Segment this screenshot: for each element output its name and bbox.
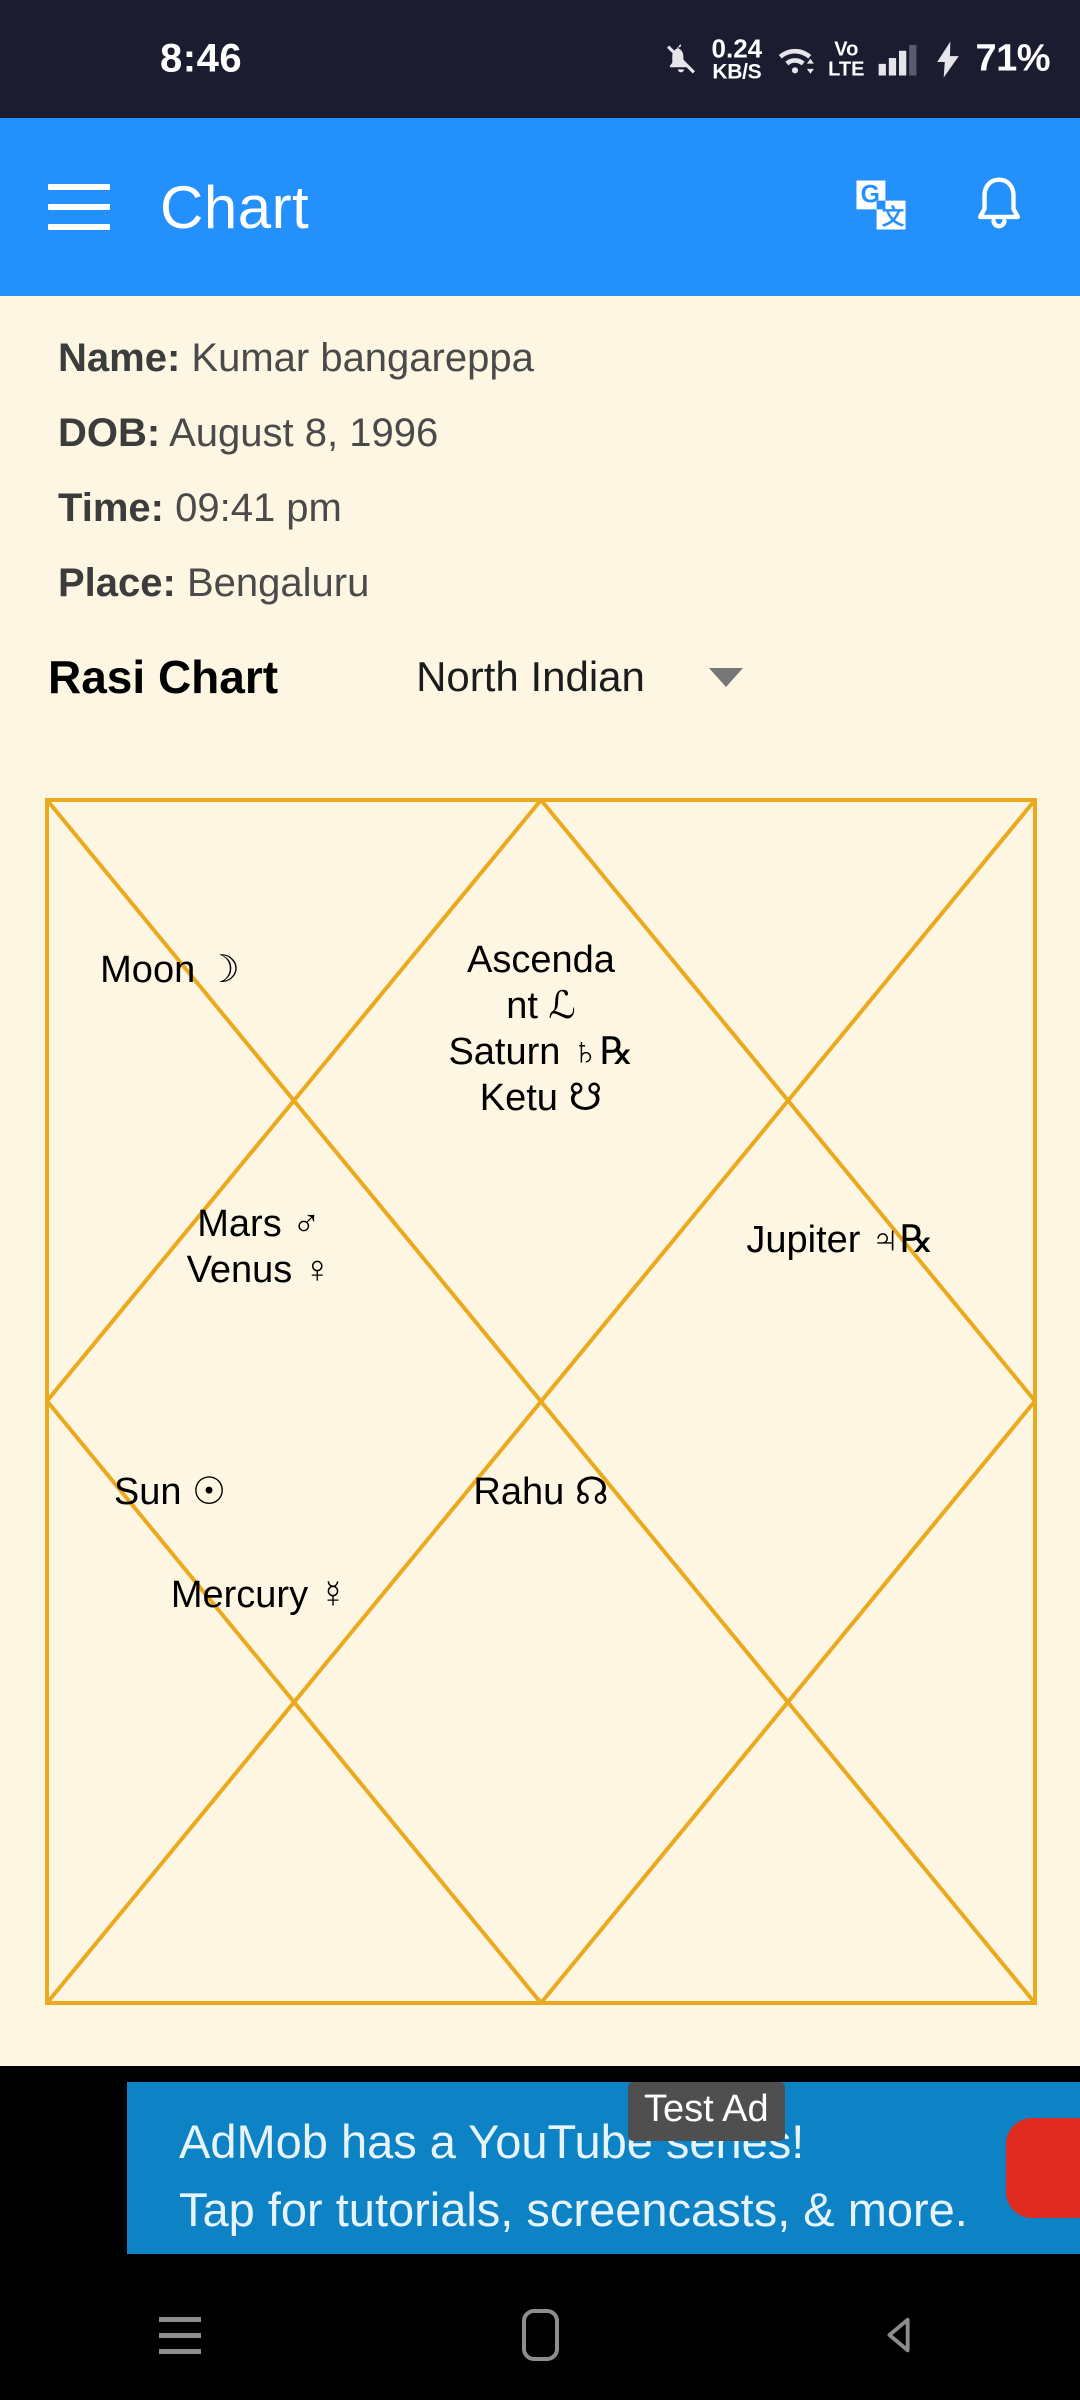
detail-row-place: Place: Bengaluru	[58, 561, 1080, 605]
wifi-icon	[775, 43, 815, 75]
cellular-signal-icon	[877, 43, 921, 75]
detail-label-name: Name:	[58, 336, 180, 380]
charging-bolt-icon	[934, 41, 962, 77]
status-bar-icons: 0.24 KB/S Vo LTE	[663, 36, 1050, 83]
android-navigation-bar	[0, 2270, 1080, 2400]
app-bar: Chart G 文	[0, 118, 1080, 296]
network-speed-unit: KB/S	[712, 62, 761, 83]
svg-text:G: G	[861, 181, 880, 208]
google-translate-icon[interactable]: G 文	[850, 174, 912, 241]
youtube-play-icon	[1006, 2118, 1080, 2218]
recents-icon[interactable]	[120, 2295, 240, 2375]
hamburger-menu-icon[interactable]	[48, 184, 110, 230]
detail-row-dob: DOB: August 8, 1996	[58, 411, 1080, 455]
detail-value-place: Bengaluru	[187, 561, 369, 605]
app-bar-actions: G 文	[850, 174, 1028, 241]
chart-header: Rasi Chart North Indian	[48, 650, 1008, 704]
rasi-chart[interactable]: Moon ☽ Ascenda nt ℒ Saturn ♄℞ Ketu ☋ Mar…	[45, 798, 1037, 2005]
detail-value-dob: August 8, 1996	[169, 411, 438, 455]
admob-banner[interactable]: AdMob has a YouTube series! Tap for tuto…	[127, 2082, 1080, 2254]
network-speed-indicator: 0.24 KB/S	[712, 36, 763, 83]
detail-label-place: Place:	[58, 561, 176, 605]
chart-section-title: Rasi Chart	[48, 650, 278, 704]
svg-text:文: 文	[882, 203, 905, 229]
status-bar-clock: 8:46	[160, 37, 242, 82]
network-speed-value: 0.24	[712, 36, 763, 62]
status-bar: 8:46 0.24 KB/S Vo LTE	[0, 0, 1080, 118]
page-title: Chart	[160, 173, 309, 242]
detail-row-time: Time: 09:41 pm	[58, 486, 1080, 530]
volte-bottom-label: LTE	[828, 59, 864, 79]
home-icon[interactable]	[480, 2295, 600, 2375]
page-content: Name: Kumar bangareppa DOB: August 8, 19…	[0, 296, 1080, 2066]
ad-container: AdMob has a YouTube series! Tap for tuto…	[0, 2066, 1080, 2270]
rasi-chart-grid	[45, 798, 1037, 2005]
detail-value-time: 09:41 pm	[175, 486, 342, 530]
detail-value-name: Kumar bangareppa	[191, 336, 533, 380]
birth-details: Name: Kumar bangareppa DOB: August 8, 19…	[0, 296, 1080, 605]
test-ad-badge: Test Ad	[628, 2082, 785, 2141]
volte-top-label: Vo	[834, 39, 858, 59]
chart-style-dropdown[interactable]: North Indian	[416, 653, 743, 701]
detail-row-name: Name: Kumar bangareppa	[58, 336, 1080, 380]
chevron-down-icon	[709, 668, 743, 687]
detail-label-dob: DOB:	[58, 411, 160, 455]
back-icon[interactable]	[840, 2295, 960, 2375]
chart-style-value: North Indian	[416, 653, 645, 701]
detail-label-time: Time:	[58, 486, 164, 530]
volte-icon: Vo LTE	[828, 39, 864, 79]
battery-percentage: 71%	[975, 38, 1050, 81]
ad-subline: Tap for tutorials, screencasts, & more.	[179, 2182, 968, 2237]
bell-icon[interactable]	[970, 174, 1028, 241]
bell-slash-icon	[663, 41, 699, 77]
